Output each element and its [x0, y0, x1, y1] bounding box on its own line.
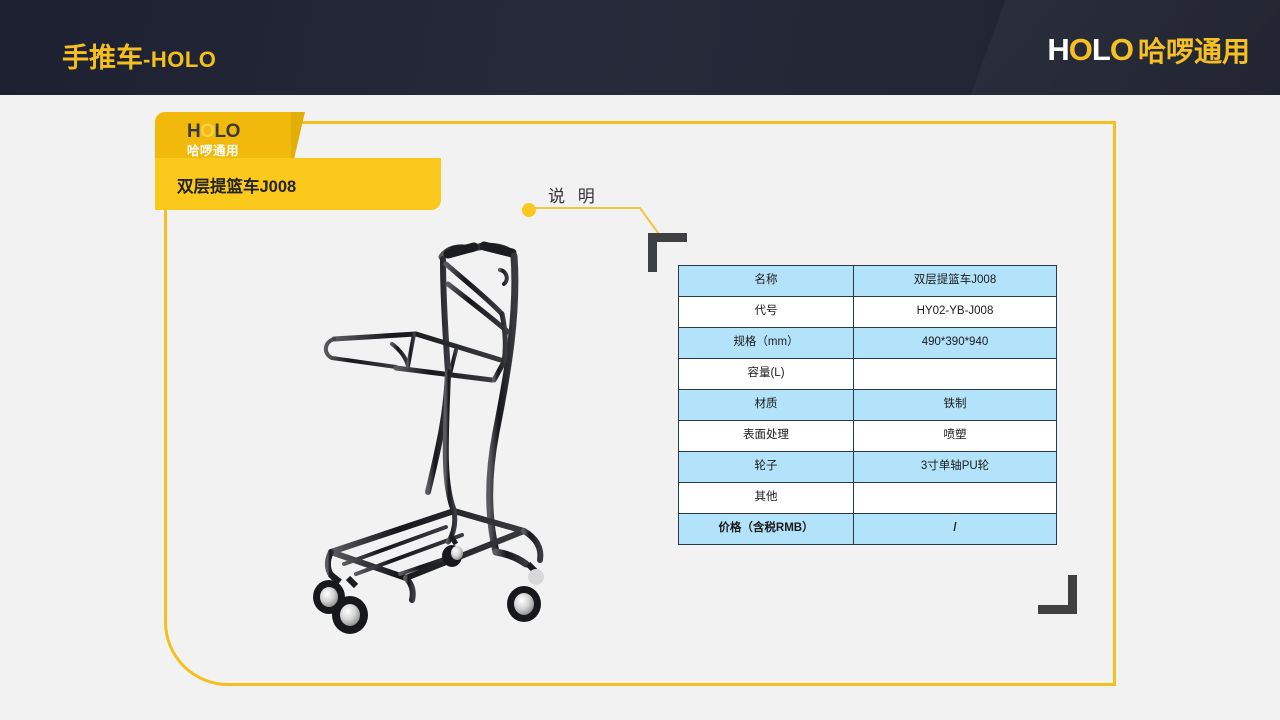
- spec-key: 价格（含税RMB）: [679, 514, 854, 545]
- product-name-label: 双层提篮车J008: [177, 173, 296, 197]
- banner-letter-l: L: [215, 121, 226, 142]
- caster-wheel-rear: [507, 564, 544, 622]
- table-row: 名称 双层提篮车J008: [679, 266, 1057, 297]
- spec-key: 规格（mm）: [679, 328, 854, 359]
- table-row: 价格（含税RMB） /: [679, 514, 1057, 545]
- spec-value: 喷塑: [854, 421, 1057, 452]
- banner-letter-h: H: [187, 121, 200, 142]
- spec-key: 容量(L): [679, 359, 854, 390]
- banner-logo-cn: 哈啰通用: [187, 143, 240, 159]
- table-row: 其他: [679, 483, 1057, 514]
- brand-letter-h: H: [1047, 32, 1068, 68]
- brand-letter-o2: O: [1110, 32, 1133, 68]
- spec-key: 表面处理: [679, 421, 854, 452]
- spec-value: 铁制: [854, 390, 1057, 421]
- spec-value: 双层提篮车J008: [854, 266, 1057, 297]
- page-title-suffix: -HOLO: [143, 47, 216, 72]
- banner-logo-mark: HOLO: [187, 122, 240, 141]
- table-row: 代号 HY02-YB-J008: [679, 297, 1057, 328]
- table-row: 容量(L): [679, 359, 1057, 390]
- brand-letter-o1: O: [1069, 32, 1092, 68]
- brand-logo: HOLO 哈啰通用: [1047, 30, 1250, 70]
- spec-value: [854, 483, 1057, 514]
- banner-letter-o1: O: [200, 121, 214, 142]
- spec-value: [854, 359, 1057, 390]
- table-row: 材质 铁制: [679, 390, 1057, 421]
- page-header: 手推车-HOLO HOLO 哈啰通用: [0, 0, 1280, 95]
- table-row: 轮子 3寸单轴PU轮: [679, 452, 1057, 483]
- spec-value: HY02-YB-J008: [854, 297, 1057, 328]
- banner-logo: HOLO 哈啰通用: [187, 122, 240, 159]
- brand-name-cn: 哈啰通用: [1138, 30, 1250, 70]
- page-title-cn: 手推车: [62, 43, 143, 73]
- spec-key: 其他: [679, 483, 854, 514]
- spec-table-body: 名称 双层提篮车J008 代号 HY02-YB-J008 规格（mm） 490*…: [679, 266, 1057, 545]
- table-row: 表面处理 喷塑: [679, 421, 1057, 452]
- table-row: 规格（mm） 490*390*940: [679, 328, 1057, 359]
- banner-letter-o2: O: [226, 121, 240, 142]
- table-corner-bracket-bottomright: [1038, 575, 1077, 614]
- product-image-trolley: [296, 222, 588, 652]
- spec-key: 名称: [679, 266, 854, 297]
- product-banner: HOLO 哈啰通用 双层提篮车J008: [155, 112, 441, 210]
- spec-value: /: [854, 514, 1057, 545]
- brand-letter-l: L: [1092, 32, 1110, 68]
- spec-key: 材质: [679, 390, 854, 421]
- spec-key: 轮子: [679, 452, 854, 483]
- spec-key: 代号: [679, 297, 854, 328]
- spec-table: 名称 双层提篮车J008 代号 HY02-YB-J008 规格（mm） 490*…: [678, 265, 1057, 545]
- spec-value: 490*390*940: [854, 328, 1057, 359]
- page-title: 手推车-HOLO: [62, 36, 216, 75]
- spec-value: 3寸单轴PU轮: [854, 452, 1057, 483]
